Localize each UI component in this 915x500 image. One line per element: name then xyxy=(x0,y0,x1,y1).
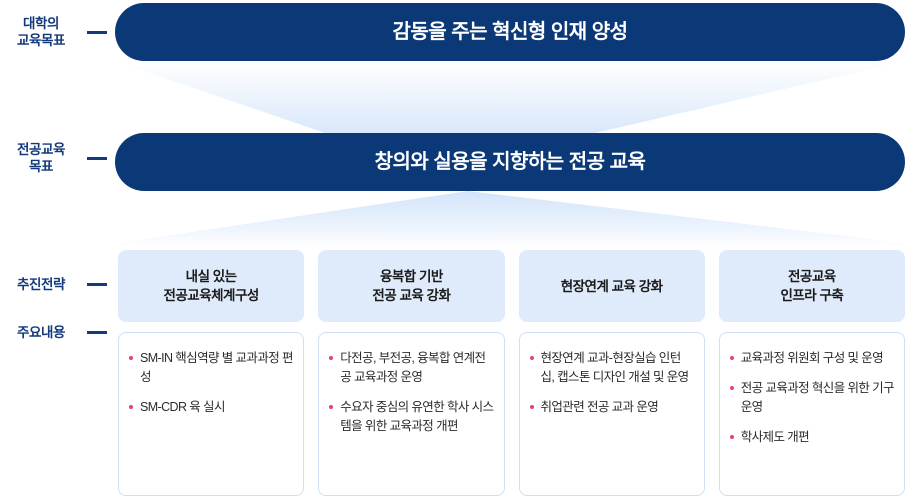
strategy-box-1[interactable]: 내실 있는 전공교육체계구성 xyxy=(118,250,304,322)
content-list-item: 취업관련 전공 교과 운영 xyxy=(530,398,694,417)
bullet-dot-icon xyxy=(129,356,133,360)
content-list-item: 수요자 중심의 유연한 학사 시스템을 위한 교육과정 개편 xyxy=(329,398,493,436)
rail-label-university-goal-text: 대학의 교육목표 xyxy=(0,15,82,49)
rail-dash-icon xyxy=(87,331,107,334)
rail-label-main-content: 주요내용 xyxy=(0,323,112,341)
strategy-box-2-title: 융복합 기반 전공 교육 강화 xyxy=(372,267,450,305)
rail-dash-icon xyxy=(87,283,107,286)
banner-university-goal: 감동을 주는 혁신형 인재 양성 xyxy=(115,3,905,61)
funnel-connector-down-icon xyxy=(0,61,915,133)
content-list-item: 교육과정 위원회 구성 및 운영 xyxy=(730,349,894,368)
bullet-dot-icon xyxy=(730,356,734,360)
bullet-dot-icon xyxy=(530,405,534,409)
content-list-item: 다전공, 부전공, 융복합 연계전공 교육과정 운영 xyxy=(329,349,493,387)
content-list-item: 학사제도 개편 xyxy=(730,428,894,447)
rail-label-university-goal: 대학의 교육목표 xyxy=(0,12,112,52)
fan-connector-up-icon xyxy=(0,191,915,247)
strategy-box-3[interactable]: 현장연계 교육 강화 xyxy=(519,250,705,322)
content-detail-row: SM-IN 핵심역량 별 교과과정 편성SM-CDR 육 실시 다전공, 부전공… xyxy=(118,332,905,496)
strategy-header-row: 내실 있는 전공교육체계구성 융복합 기반 전공 교육 강화 현장연계 교육 강… xyxy=(118,250,905,322)
strategy-box-3-title: 현장연계 교육 강화 xyxy=(561,277,663,296)
strategy-box-4[interactable]: 전공교육 인프라 구축 xyxy=(719,250,905,322)
content-list-1: SM-IN 핵심역량 별 교과과정 편성SM-CDR 육 실시 xyxy=(129,349,293,417)
rail-label-strategy-text: 추진전략 xyxy=(0,276,82,293)
strategy-box-2[interactable]: 융복합 기반 전공 교육 강화 xyxy=(318,250,504,322)
banner-major-goal: 창의와 실용을 지향하는 전공 교육 xyxy=(115,133,905,191)
strategy-box-1-title: 내실 있는 전공교육체계구성 xyxy=(163,267,258,305)
rail-dash-icon xyxy=(87,31,107,34)
banner-university-goal-text: 감동을 주는 혁신형 인재 양성 xyxy=(392,20,627,44)
education-goal-diagram: 대학의 교육목표 감동을 주는 혁신형 인재 양성 전공교육 목표 창의와 실용… xyxy=(0,0,915,500)
bullet-dot-icon xyxy=(129,405,133,409)
bullet-dot-icon xyxy=(730,435,734,439)
bullet-dot-icon xyxy=(329,405,333,409)
content-list-2: 다전공, 부전공, 융복합 연계전공 교육과정 운영수요자 중심의 유연한 학사… xyxy=(329,349,493,436)
bullet-dot-icon xyxy=(730,386,734,390)
content-box-4: 교육과정 위원회 구성 및 운영전공 교육과정 혁신을 위한 기구 운영학사제도… xyxy=(719,332,905,496)
rail-dash-icon xyxy=(87,157,107,160)
rail-label-major-goal: 전공교육 목표 xyxy=(0,138,112,178)
content-box-3: 현장연계 교과-현장실습 인턴십, 캡스톤 디자인 개설 및 운영취업관련 전공… xyxy=(519,332,705,496)
fan-up-svg xyxy=(0,191,915,247)
rail-label-main-content-text: 주요내용 xyxy=(0,324,82,341)
content-list-item: SM-CDR 육 실시 xyxy=(129,398,293,417)
banner-major-goal-text: 창의와 실용을 지향하는 전공 교육 xyxy=(375,150,646,174)
funnel-down-svg xyxy=(0,61,915,133)
rail-label-major-goal-text: 전공교육 목표 xyxy=(0,141,82,175)
bullet-dot-icon xyxy=(530,356,534,360)
content-list-item: 전공 교육과정 혁신을 위한 기구 운영 xyxy=(730,379,894,417)
bullet-dot-icon xyxy=(329,356,333,360)
content-box-2: 다전공, 부전공, 융복합 연계전공 교육과정 운영수요자 중심의 유연한 학사… xyxy=(318,332,504,496)
content-list-3: 현장연계 교과-현장실습 인턴십, 캡스톤 디자인 개설 및 운영취업관련 전공… xyxy=(530,349,694,417)
content-list-item: SM-IN 핵심역량 별 교과과정 편성 xyxy=(129,349,293,387)
content-list-item: 현장연계 교과-현장실습 인턴십, 캡스톤 디자인 개설 및 운영 xyxy=(530,349,694,387)
rail-label-strategy: 추진전략 xyxy=(0,275,112,293)
content-list-4: 교육과정 위원회 구성 및 운영전공 교육과정 혁신을 위한 기구 운영학사제도… xyxy=(730,349,894,447)
strategy-box-4-title: 전공교육 인프라 구축 xyxy=(780,267,843,305)
content-box-1: SM-IN 핵심역량 별 교과과정 편성SM-CDR 육 실시 xyxy=(118,332,304,496)
